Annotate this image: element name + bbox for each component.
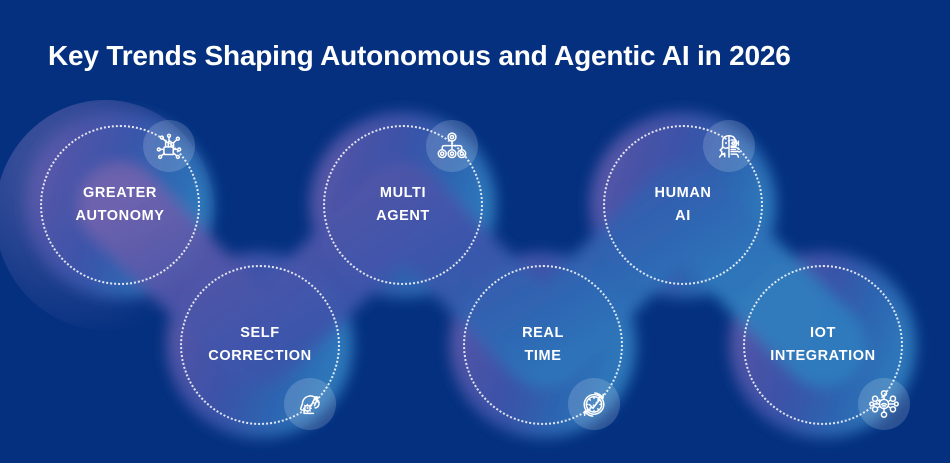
node-label-line2: AUTONOMY (75, 205, 164, 228)
node-label-line2: INTEGRATION (770, 345, 875, 368)
node-label-line1: HUMAN (655, 182, 712, 205)
node-label-line1: IOT (810, 322, 836, 345)
node-label-line2: AGENT (376, 205, 430, 228)
infographic-canvas: Key Trends Shaping Autonomous and Agenti… (0, 0, 950, 463)
node-label-line1: GREATER (83, 182, 157, 205)
head-wrench-gear-icon (284, 378, 336, 430)
page-title: Key Trends Shaping Autonomous and Agenti… (48, 40, 918, 72)
node-label-line1: MULTI (380, 182, 426, 205)
node-label-line2: CORRECTION (208, 345, 311, 368)
node-label-line2: AI (675, 205, 691, 228)
iot-wifi-network-icon (858, 378, 910, 430)
robotic-fist-circuit-icon (143, 120, 195, 172)
node-label-line1: REAL (522, 322, 564, 345)
agent-network-tree-icon (426, 120, 478, 172)
clock-check-icon (568, 378, 620, 430)
human-robot-face-icon (703, 120, 755, 172)
node-label-line2: TIME (524, 345, 561, 368)
node-label-line1: SELF (240, 322, 279, 345)
